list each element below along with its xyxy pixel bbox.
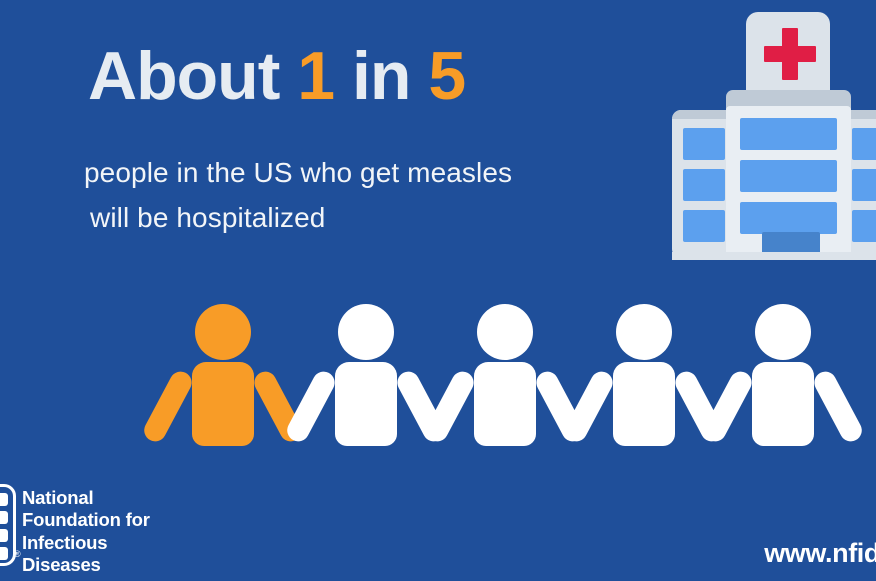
person-icon-2 [303, 300, 428, 448]
hospital-building-icon [662, 12, 876, 262]
person-head [755, 304, 811, 360]
logo-line-1: National [22, 487, 150, 509]
person-head [616, 304, 672, 360]
headline-word-in: in [352, 38, 410, 114]
person-head [477, 304, 533, 360]
logo-line-2: Foundation for [22, 509, 150, 531]
subtext-line-2: will be hospitalized [84, 195, 512, 240]
registered-trademark-symbol: ® [14, 550, 21, 559]
headline: About 1 in 5 [88, 42, 465, 110]
infographic-canvas: About 1 in 5 people in the US who get me… [0, 0, 876, 581]
headline-denominator: 5 [428, 38, 465, 114]
person-icon-1-hospitalized [160, 300, 285, 448]
nfid-logo[interactable]: ® National Foundation for Infectious Dis… [0, 482, 200, 577]
person-torso [752, 362, 814, 446]
logo-line-3: Infectious [22, 532, 150, 554]
subtext: people in the US who get measles will be… [84, 150, 512, 241]
nfid-logo-text: National Foundation for Infectious Disea… [22, 487, 150, 577]
logo-mark-dot [0, 529, 8, 542]
hospital-window [683, 128, 725, 160]
hospital-window [740, 118, 837, 150]
website-url[interactable]: www.nfid [764, 538, 876, 569]
person-icon-4 [581, 300, 706, 448]
person-head [338, 304, 394, 360]
hospital-window [683, 169, 725, 201]
headline-numerator: 1 [297, 38, 334, 114]
red-cross-icon-bar [764, 46, 816, 62]
hospital-window [683, 210, 725, 242]
hospital-base [672, 252, 876, 260]
logo-mark-dot [0, 547, 8, 560]
logo-line-4: Diseases [22, 554, 150, 576]
person-torso [192, 362, 254, 446]
hospital-window [740, 202, 837, 234]
hospital-window [852, 210, 876, 242]
hospital-window [852, 128, 876, 160]
person-icon-3 [442, 300, 567, 448]
person-arm-left [283, 368, 338, 445]
person-arm-left [140, 368, 195, 445]
subtext-line-1: people in the US who get measles [84, 157, 512, 188]
logo-mark-dot [0, 493, 8, 506]
person-icon-5 [720, 300, 845, 448]
person-head [195, 304, 251, 360]
hospital-window [852, 169, 876, 201]
logo-mark-dot [0, 511, 8, 524]
person-torso [335, 362, 397, 446]
hospital-window [740, 160, 837, 192]
people-pictogram [160, 300, 860, 450]
headline-word-about: About [88, 38, 279, 114]
person-torso [613, 362, 675, 446]
person-arm-right [810, 368, 865, 445]
person-torso [474, 362, 536, 446]
